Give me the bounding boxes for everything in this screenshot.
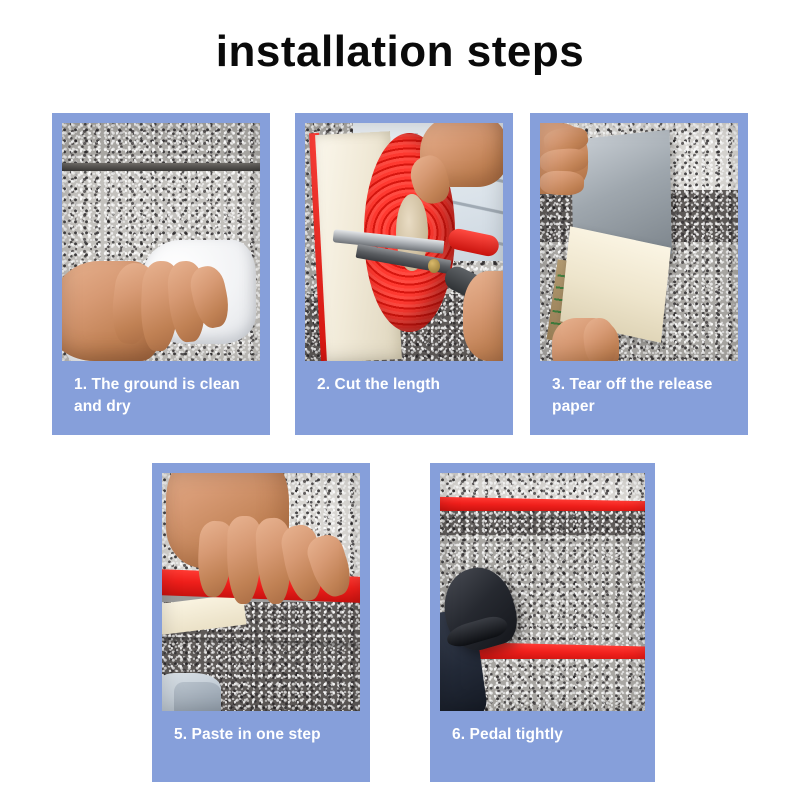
stone-edge [62, 163, 260, 170]
step-card-3: 3. Tear off the release paper [530, 113, 748, 435]
step-caption-6: 6. Pedal tightly [440, 711, 645, 746]
denim-fabric [174, 682, 222, 711]
step-card-1: 1. The ground is clean and dry [52, 113, 270, 435]
step-card-2: 2. Cut the length [295, 113, 513, 435]
step-caption-5: 5. Paste in one step [162, 711, 360, 746]
step-photo-2 [305, 123, 503, 361]
step-photo-6 [440, 473, 645, 711]
page-title: installation steps [0, 26, 800, 79]
stone-riser-shadow [440, 511, 645, 535]
installation-steps-infographic: installation steps 1. The ground is clea… [0, 0, 800, 800]
step-card-5: 5. Paste in one step [152, 463, 370, 782]
stone-tread-upper [62, 123, 260, 163]
scissors-pivot-screw [428, 259, 440, 273]
step-caption-1: 1. The ground is clean and dry [62, 361, 260, 419]
step-photo-5 [162, 473, 360, 711]
step-photo-3 [540, 123, 738, 361]
step-caption-2: 2. Cut the length [305, 361, 503, 396]
step-caption-3: 3. Tear off the release paper [540, 361, 738, 419]
step-photo-1 [62, 123, 260, 361]
step-card-6: 6. Pedal tightly [430, 463, 655, 782]
finger-ring [540, 170, 584, 195]
hand-holding-scissors [463, 271, 503, 361]
